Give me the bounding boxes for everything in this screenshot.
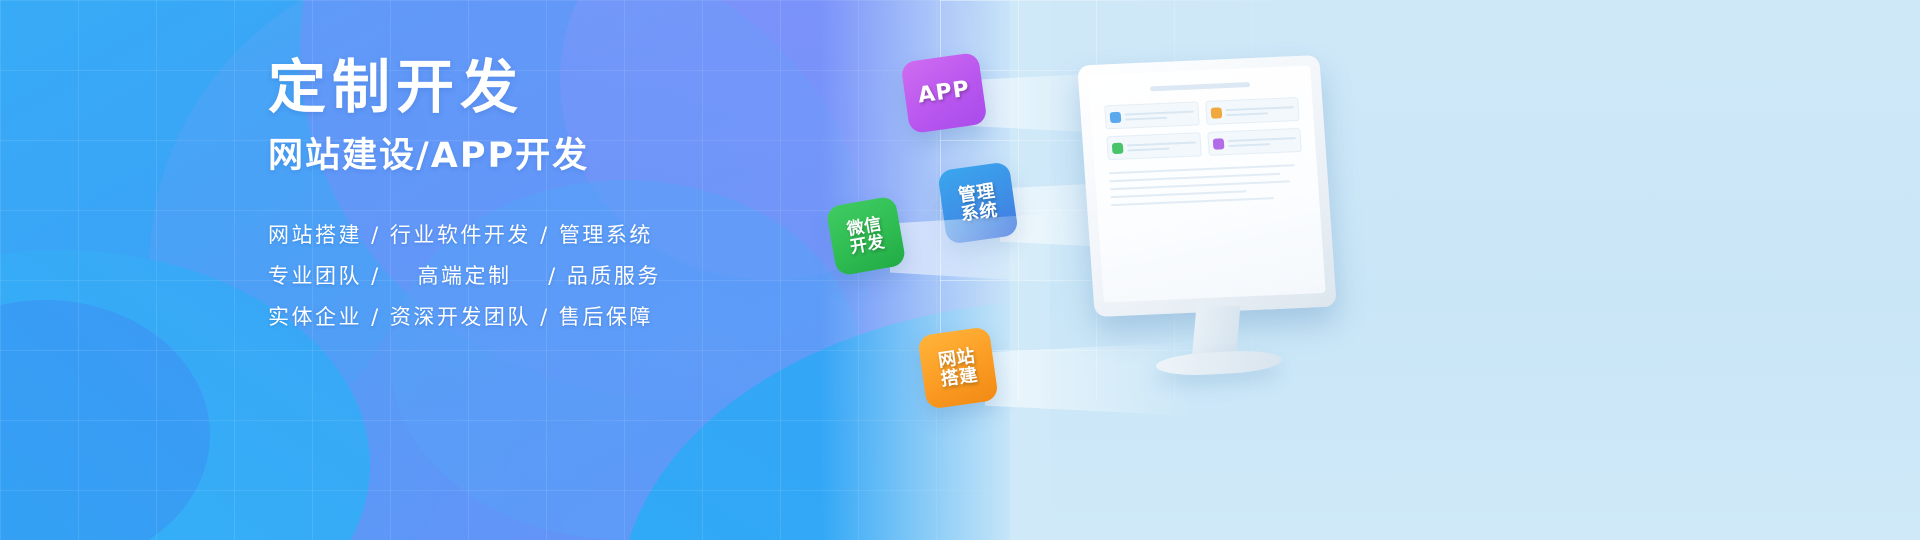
monitor-screen <box>1088 65 1326 302</box>
management-system-card[interactable]: 管理系统 <box>937 161 1019 244</box>
feature-line-1: 网站搭建 / 行业软件开发 / 管理系统 <box>268 215 908 256</box>
subheadline: 网站建设/APP开发 <box>268 138 908 175</box>
screen-card-icon <box>1110 111 1122 122</box>
website-build-card-label: 网站搭建 <box>937 346 979 390</box>
app-card[interactable]: APP <box>900 52 987 134</box>
website-build-card[interactable]: 网站搭建 <box>917 326 999 409</box>
screen-card-icon <box>1210 107 1222 118</box>
headline: 定制开发 <box>268 58 908 116</box>
screen-card-icon <box>1212 138 1224 149</box>
feature-line-3: 实体企业 / 资深开发团队 / 售后保障 <box>268 297 908 338</box>
management-system-card-label: 管理系统 <box>957 181 999 225</box>
feature-line-2: 专业团队 / 高端定制 / 品质服务 <box>268 256 908 297</box>
screen-card <box>1106 132 1201 160</box>
screen-text-lines <box>1109 164 1305 206</box>
screen-card-lines <box>1125 110 1194 120</box>
monitor-illustration <box>1070 60 1340 390</box>
screen-card-lines <box>1225 106 1294 116</box>
wechat-dev-card-label: 微信开发 <box>846 215 887 257</box>
screen-card <box>1104 101 1199 129</box>
wechat-dev-card[interactable]: 微信开发 <box>825 195 906 276</box>
app-card-label: APP <box>916 78 971 109</box>
screen-card-grid <box>1104 97 1302 160</box>
screen-title-bar <box>1149 82 1250 91</box>
screen-card <box>1207 128 1302 156</box>
promo-banner: 定制开发 网站建设/APP开发 网站搭建 / 行业软件开发 / 管理系统 专业团… <box>0 0 1920 540</box>
monitor-bezel <box>1077 55 1336 317</box>
monitor-stand-base <box>1156 349 1283 378</box>
screen-card-lines <box>1227 137 1296 147</box>
copy-block: 定制开发 网站建设/APP开发 网站搭建 / 行业软件开发 / 管理系统 专业团… <box>268 58 908 338</box>
screen-card-icon <box>1112 142 1124 153</box>
feature-list: 网站搭建 / 行业软件开发 / 管理系统 专业团队 / 高端定制 / 品质服务 … <box>268 215 908 338</box>
screen-card <box>1205 97 1300 125</box>
background-blob-accent <box>0 300 210 540</box>
screen-card-lines <box>1127 141 1196 151</box>
